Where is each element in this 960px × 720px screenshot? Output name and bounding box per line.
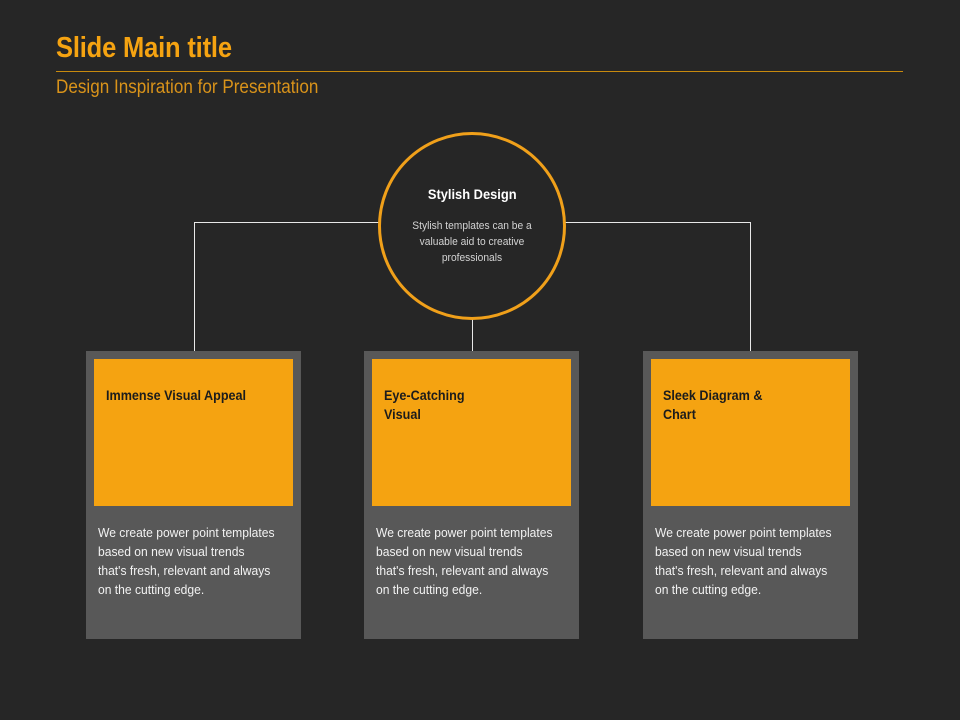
card-body-text: We create power point templates based on…: [376, 523, 554, 599]
hub-description: Stylish templates can be a valuable aid …: [408, 218, 536, 266]
connector-line-right-horizontal: [565, 222, 751, 223]
card-heading: Eye-Catching Visual: [384, 386, 542, 424]
connector-line-center-vertical: [472, 318, 473, 351]
card-body-text: We create power point templates based on…: [98, 523, 276, 599]
connector-line-right-vertical: [750, 222, 751, 351]
feature-card[interactable]: Sleek Diagram & Chart We create power po…: [643, 351, 858, 639]
card-heading: Immense Visual Appeal: [106, 386, 264, 405]
card-image-panel: Immense Visual Appeal: [94, 359, 293, 506]
hub-circle: Stylish Design Stylish templates can be …: [378, 132, 566, 320]
title-divider: [56, 71, 903, 72]
feature-card[interactable]: Immense Visual Appeal We create power po…: [86, 351, 301, 639]
slide-canvas: Slide Main title Design Inspiration for …: [0, 0, 960, 720]
page-subtitle: Design Inspiration for Presentation: [56, 76, 318, 100]
card-body-text: We create power point templates based on…: [655, 523, 833, 599]
card-image-panel: Eye-Catching Visual: [372, 359, 571, 506]
hub-title: Stylish Design: [428, 186, 517, 202]
card-image-panel: Sleek Diagram & Chart: [651, 359, 850, 506]
card-heading: Sleek Diagram & Chart: [663, 386, 821, 424]
connector-line-left-vertical: [194, 222, 195, 351]
page-title: Slide Main title: [56, 30, 232, 66]
feature-card[interactable]: Eye-Catching Visual We create power poin…: [364, 351, 579, 639]
connector-line-left-horizontal: [194, 222, 379, 223]
